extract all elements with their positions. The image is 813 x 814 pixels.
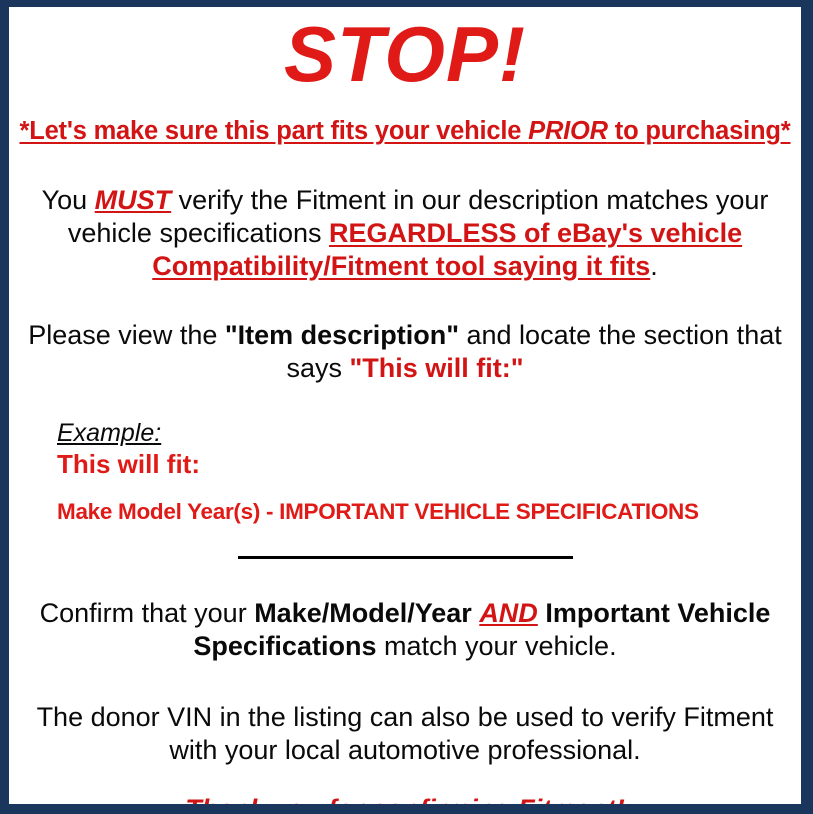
example-label: Example: xyxy=(57,419,801,447)
confirm-paragraph-segment-4: match your vehicle. xyxy=(376,631,616,661)
emphasis-and: AND xyxy=(479,598,538,628)
confirm-paragraph-segment-1: Confirm that your xyxy=(40,598,255,628)
view-description-paragraph: Please view the "Item description" and l… xyxy=(25,283,785,385)
fitment-notice-card: STOP! *Let's make sure this part fits yo… xyxy=(0,0,813,814)
example-block: Example: This will fit: Make Model Year(… xyxy=(9,385,801,525)
divider xyxy=(9,525,801,567)
notice-content-area: STOP! *Let's make sure this part fits yo… xyxy=(9,7,801,804)
emphasis-this-will-fit: "This will fit:" xyxy=(349,353,523,383)
view-paragraph-segment-1: Please view the xyxy=(28,320,225,350)
tagline: *Let's make sure this part fits your veh… xyxy=(9,93,801,146)
tagline-text-after: to purchasing* xyxy=(608,117,791,145)
emphasis-make-model-year: Make/Model/Year xyxy=(254,598,472,628)
must-verify-paragraph: You MUST verify the Fitment in our descr… xyxy=(25,146,785,283)
page-title: STOP! xyxy=(9,7,801,93)
example-fit-heading: This will fit: xyxy=(57,447,801,479)
emphasis-item-description: "Item description" xyxy=(225,320,459,350)
example-spec-line: Make Model Year(s) - IMPORTANT VEHICLE S… xyxy=(57,479,801,525)
donor-vin-paragraph: The donor VIN in the listing can also be… xyxy=(25,663,785,767)
tagline-text-before: *Let's make sure this part fits your veh… xyxy=(19,117,528,145)
tagline-emphasis-prior: PRIOR xyxy=(528,117,608,145)
confirm-paragraph: Confirm that your Make/Model/Year AND Im… xyxy=(25,567,785,663)
divider-rule xyxy=(238,556,573,559)
emphasis-must: MUST xyxy=(95,185,172,215)
must-paragraph-segment-1: You xyxy=(42,185,95,215)
must-paragraph-segment-3: . xyxy=(650,251,658,281)
thank-you-message: Thank you for confirming Fitment! xyxy=(9,767,801,814)
